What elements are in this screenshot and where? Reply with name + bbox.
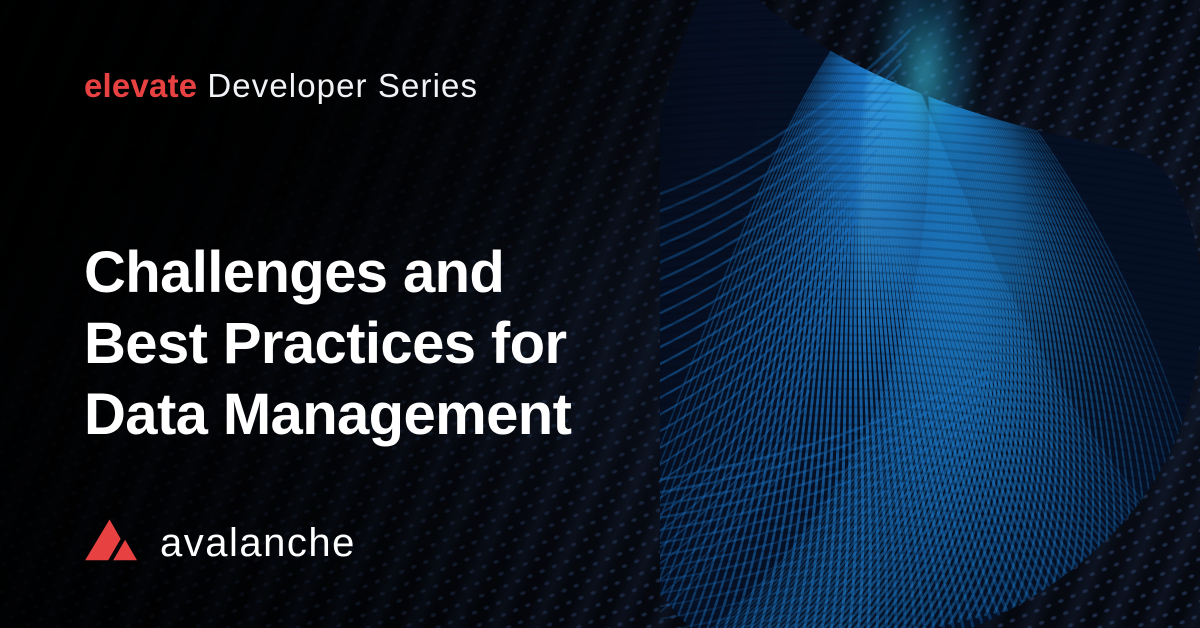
eyebrow-series-word: Developer Series [207, 67, 478, 104]
eyebrow: elevateDeveloper Series [84, 66, 478, 106]
avalanche-wordmark: avalanche [160, 523, 356, 563]
banner-canvas: elevateDeveloper Series Challenges and B… [0, 0, 1200, 628]
page-title-line-1: Challenges and [84, 237, 724, 308]
page-title-line-3: Data Management [84, 379, 724, 450]
eyebrow-brand-word: elevate [84, 67, 197, 104]
avalanche-logo-icon [84, 518, 142, 568]
avalanche-logo-lockup: avalanche [84, 512, 356, 574]
page-title: Challenges and Best Practices for Data M… [84, 237, 724, 450]
page-title-line-2: Best Practices for [84, 308, 724, 379]
banner-content: elevateDeveloper Series Challenges and B… [0, 0, 1200, 628]
